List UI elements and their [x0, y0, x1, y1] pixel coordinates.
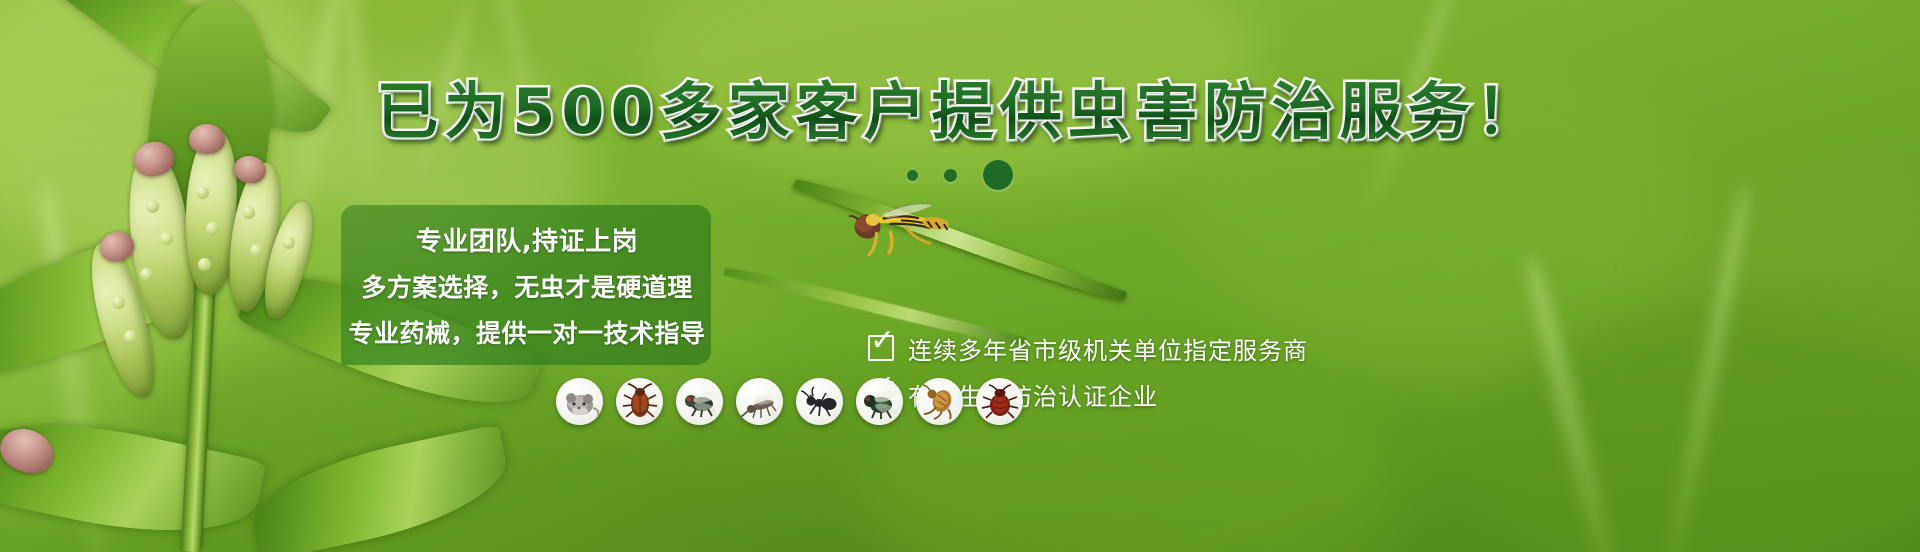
feature-line-2: 多方案选择，无虫才是硬道理 [361, 268, 693, 304]
feature-line-1: 专业团队,持证上岗 [416, 221, 638, 258]
fly-icon [676, 378, 723, 425]
pest-icons-row [556, 378, 1023, 425]
bedbug-icon [976, 378, 1023, 425]
cockroach-icon [616, 378, 663, 425]
ant-icon [796, 378, 843, 425]
page-title: 已为500多家客户提供虫害防治服务！ [0, 76, 1920, 148]
checkbox-checked-icon: ✓ [868, 335, 894, 361]
mouse-icon [556, 378, 603, 425]
checklist-label-1: 连续多年省市级机关单位指定服务商 [908, 331, 1308, 366]
housefly-icon [856, 378, 903, 425]
list-item: ✓ 连续多年省市级机关单位指定服务商 [868, 325, 1388, 371]
dot-small-icon [907, 170, 918, 181]
flea-icon [916, 378, 963, 425]
feature-panel-text: 专业团队,持证上岗 多方案选择，无虫才是硬道理 专业药械，提供一对一技术指导 [341, 205, 713, 365]
dot-medium-icon [944, 169, 957, 182]
decor-dots-row [0, 160, 1920, 190]
mosquito-icon [736, 378, 783, 425]
pest-control-banner: 已为500多家客户提供虫害防治服务！ 已为500多家客户提供虫害防治服务！ 专业… [0, 0, 1920, 552]
feature-line-3: 专业药械，提供一对一技术指导 [348, 314, 705, 350]
dot-large-icon [983, 160, 1013, 190]
